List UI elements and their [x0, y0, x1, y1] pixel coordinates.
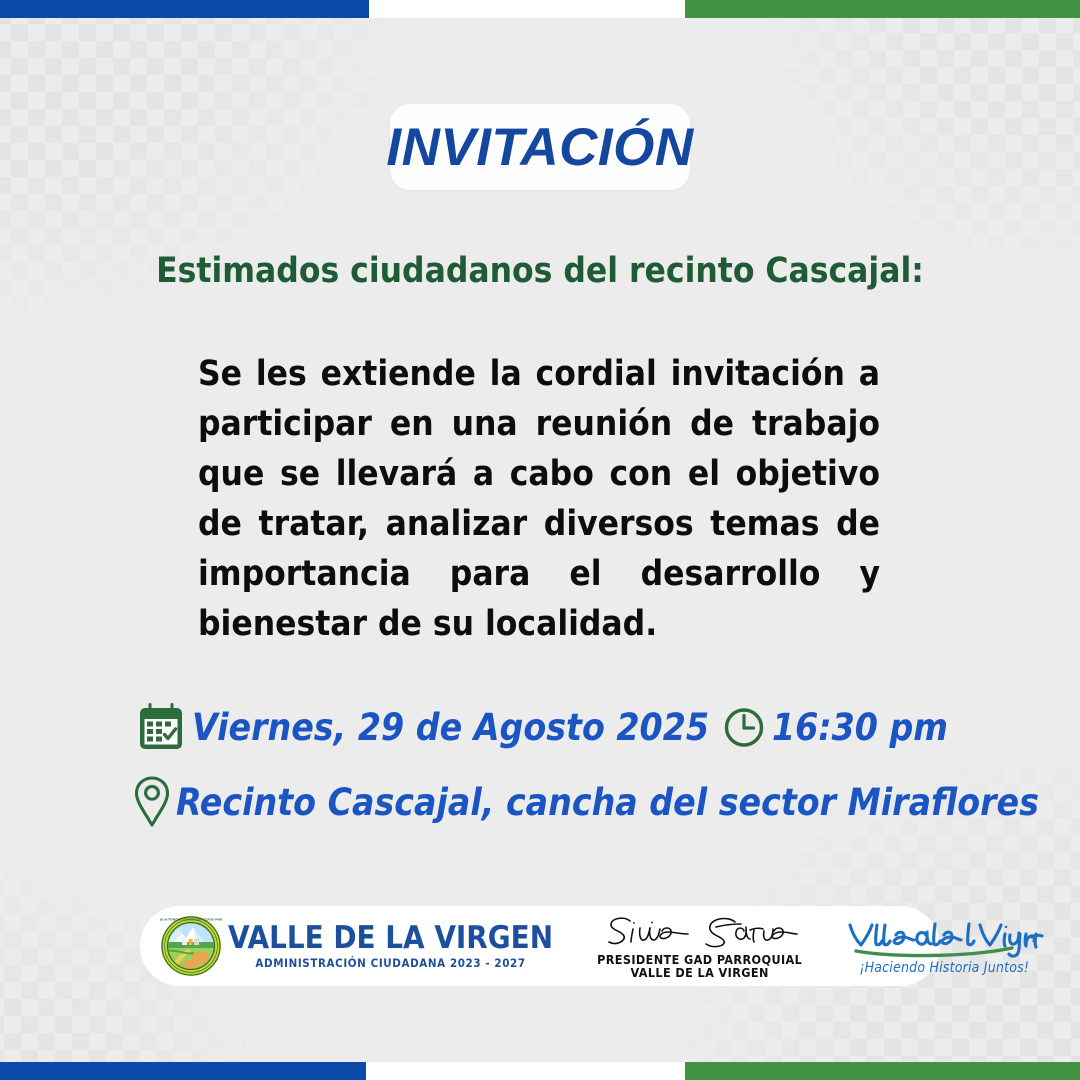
- institution-subtitle: ADMINISTRACIÓN CIUDADANA 2023 - 2027: [228, 958, 553, 970]
- institution-name: VALLE DE LA VIRGEN: [228, 923, 553, 954]
- institution-logo: GOBIERNO AUTÓNOMO DESCENTRALIZADO PARROQ…: [160, 915, 553, 977]
- greeting-text: Estimados ciudadanos del recinto Cascaja…: [140, 246, 940, 296]
- bottom-bar-green: [685, 1062, 1080, 1080]
- body-paragraph: Se les extiende la cordial invitación a …: [198, 349, 880, 649]
- top-bar-white: [369, 0, 685, 18]
- location-value: Recinto Cascajal, cancha del sector Mira…: [176, 781, 1039, 824]
- background-texture-top-right: [750, 0, 1080, 282]
- invitation-poster: INVITACIÓN Estimados ciudadanos del reci…: [0, 0, 1080, 1080]
- top-bar-green: [685, 0, 1080, 18]
- brand-logo: ¡Haciendo Historia Juntos!: [844, 918, 1044, 975]
- footer-logo-bar: GOBIERNO AUTÓNOMO DESCENTRALIZADO PARROQ…: [140, 906, 940, 986]
- page-title-pill: INVITACIÓN: [390, 104, 690, 190]
- signature-block: PRESIDENTE GAD PARROQUIAL VALLE DE LA VI…: [597, 913, 802, 980]
- map-pin-icon: [130, 774, 174, 830]
- clock-icon: [723, 704, 765, 750]
- municipal-seal-icon: GOBIERNO AUTÓNOMO DESCENTRALIZADO PARROQ…: [160, 915, 222, 977]
- datetime-row: Viernes, 29 de Agosto 2025 16:30 pm: [138, 703, 948, 751]
- institution-logo-text: VALLE DE LA VIRGEN ADMINISTRACIÓN CIUDAD…: [228, 923, 553, 970]
- location-row: Recinto Cascajal, cancha del sector Mira…: [130, 774, 960, 830]
- top-bar-blue: [0, 0, 369, 18]
- page-title: INVITACIÓN: [386, 117, 693, 178]
- brand-tagline: ¡Haciendo Historia Juntos!: [844, 961, 1044, 975]
- calendar-icon: [138, 703, 184, 751]
- brand-script-logo: [844, 918, 1044, 960]
- handwritten-signature: [600, 913, 800, 953]
- time-value: 16:30 pm: [772, 706, 948, 749]
- bottom-bar-white: [366, 1062, 685, 1080]
- date-value: Viernes, 29 de Agosto 2025: [192, 706, 709, 749]
- bottom-bar-blue: [0, 1062, 366, 1080]
- svg-text:GOBIERNO AUTÓNOMO DESCENTRALIZ: GOBIERNO AUTÓNOMO DESCENTRALIZADO PARROQ…: [160, 917, 222, 922]
- signature-role-line2: VALLE DE LA VIRGEN: [597, 967, 802, 980]
